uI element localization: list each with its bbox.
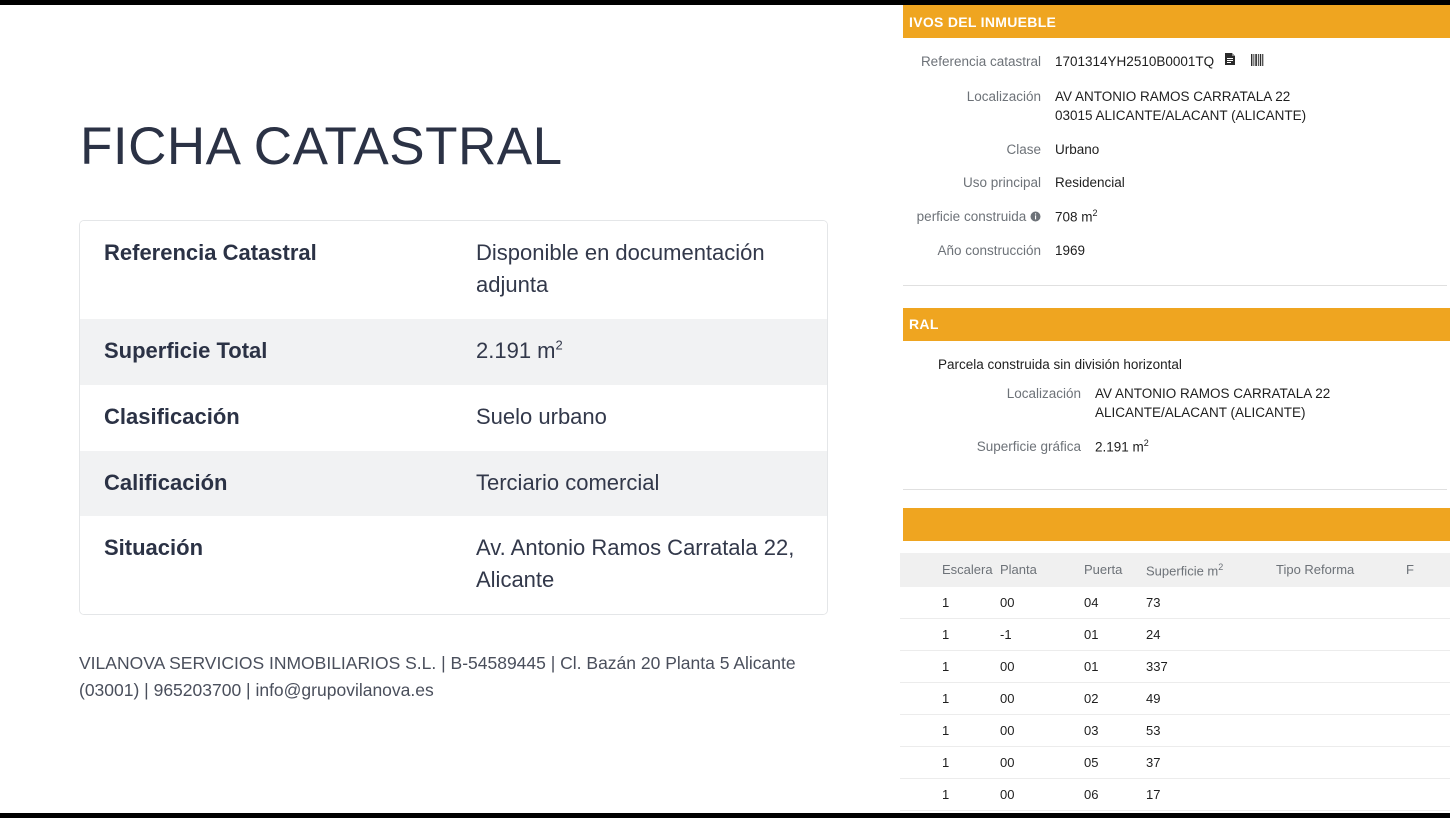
cell-tipo-reforma	[1272, 787, 1402, 802]
cell-escalera: 1	[900, 723, 996, 738]
field-label: Clase	[900, 140, 1055, 160]
cell-puerta: 01	[1080, 659, 1142, 674]
field-value: AV ANTONIO RAMOS CARRATALA 22 ALICANTE/A…	[1095, 384, 1450, 423]
cell-puerta: 01	[1080, 627, 1142, 642]
superficie-grafica-unit: 2	[1144, 438, 1149, 448]
reference-actions	[1224, 52, 1264, 73]
superficie-grafica-value: 2.191 m	[1095, 439, 1144, 454]
cell-puerta: 04	[1080, 595, 1142, 610]
table-row: Calificación Terciario comercial	[80, 451, 827, 517]
table-row: 1 00 06 17	[900, 779, 1450, 811]
cell-puerta: 06	[1080, 787, 1142, 802]
row-value: Disponible en documentación adjunta	[476, 237, 803, 301]
cell-superficie: 24	[1142, 627, 1272, 642]
superficie-construida-label-text: perficie construida	[917, 209, 1027, 224]
row-label: Situación	[104, 532, 476, 564]
section-header-property: IVOS DEL INMUEBLE	[903, 5, 1450, 38]
barcode-icon[interactable]	[1251, 53, 1264, 73]
section-header-property-label: IVOS DEL INMUEBLE	[909, 14, 1056, 30]
cell-tipo-reforma	[1272, 691, 1402, 706]
cell-superficie: 337	[1142, 659, 1272, 674]
parcel-field-list: Localización AV ANTONIO RAMOS CARRATALA …	[900, 384, 1450, 489]
company-contact-footer: VILANOVA SERVICIOS INMOBILIARIOS S.L. | …	[79, 650, 839, 704]
field-value: Urbano	[1055, 140, 1450, 160]
row-value-superscript: 2	[556, 337, 563, 352]
field-label: Localización	[900, 384, 1095, 404]
table-row: 1 00 07 118	[900, 811, 1450, 813]
cell-planta: 00	[996, 595, 1080, 610]
cell-fecha-reforma	[1402, 595, 1450, 610]
cell-fecha-reforma	[1402, 627, 1450, 642]
field-superficie-construida: perficie construida 708 m2	[900, 207, 1450, 227]
copy-icon[interactable]	[1224, 52, 1237, 73]
cell-tipo-reforma	[1272, 755, 1402, 770]
row-label: Referencia Catastral	[104, 237, 476, 269]
field-value: 1701314YH2510B0001TQ	[1055, 52, 1450, 73]
field-superficie-grafica: Superficie gráfica 2.191 m2	[900, 437, 1450, 457]
cell-escalera: 1	[900, 627, 996, 642]
section-divider	[903, 489, 1447, 490]
table-row: 1 00 04 73	[900, 587, 1450, 619]
cadastre-viewer-panel: IVOS DEL INMUEBLE Referencia catastral 1…	[900, 5, 1450, 813]
section-header-units	[903, 508, 1450, 541]
left-document-panel: FICHA CATASTRAL Referencia Catastral Dis…	[0, 5, 900, 813]
cell-fecha-reforma	[1402, 787, 1450, 802]
cell-fecha-reforma	[1402, 723, 1450, 738]
cell-superficie: 37	[1142, 755, 1272, 770]
cell-tipo-reforma	[1272, 627, 1402, 642]
cell-tipo-reforma	[1272, 595, 1402, 610]
field-clase: Clase Urbano	[900, 140, 1450, 160]
field-label: Uso principal	[900, 173, 1055, 193]
cell-fecha-reforma	[1402, 691, 1450, 706]
cell-planta: 00	[996, 755, 1080, 770]
column-header-superficie-text: Superficie m	[1146, 563, 1218, 578]
page-title: FICHA CATASTRAL	[80, 118, 563, 176]
row-value: Suelo urbano	[476, 401, 803, 433]
table-row: 1 00 05 37	[900, 747, 1450, 779]
units-table: Escalera Planta Puerta Superficie m2 Tip…	[900, 553, 1450, 813]
cell-escalera: 1	[900, 659, 996, 674]
superficie-construida-unit: 2	[1093, 208, 1098, 218]
cell-planta: 00	[996, 659, 1080, 674]
cell-planta: 00	[996, 723, 1080, 738]
cell-puerta: 02	[1080, 691, 1142, 706]
column-header-tipo-reforma: Tipo Reforma	[1272, 562, 1402, 578]
field-label: Año construcción	[900, 241, 1055, 261]
cell-superficie: 53	[1142, 723, 1272, 738]
field-value: 1969	[1055, 241, 1450, 261]
table-row: Situación Av. Antonio Ramos Carratala 22…	[80, 516, 827, 614]
parcel-localizacion-line-2: ALICANTE/ALACANT (ALICANTE)	[1095, 403, 1450, 423]
cell-puerta: 03	[1080, 723, 1142, 738]
row-value: Av. Antonio Ramos Carratala 22, Alicante	[476, 532, 803, 596]
field-localizacion: Localización AV ANTONIO RAMOS CARRATALA …	[900, 87, 1450, 126]
cell-superficie: 73	[1142, 595, 1272, 610]
cell-superficie: 49	[1142, 691, 1272, 706]
field-anio-construccion: Año construcción 1969	[900, 241, 1450, 261]
reference-catastral-value: 1701314YH2510B0001TQ	[1055, 54, 1214, 69]
row-value: Terciario comercial	[476, 467, 803, 499]
cell-planta: 00	[996, 691, 1080, 706]
column-header-planta: Planta	[996, 562, 1080, 578]
field-value: 2.191 m2	[1095, 437, 1450, 457]
row-label: Clasificación	[104, 401, 476, 433]
field-label: Localización	[900, 87, 1055, 107]
column-header-superficie: Superficie m2	[1142, 562, 1272, 578]
cell-superficie: 17	[1142, 787, 1272, 802]
table-row: Superficie Total 2.191 m2	[80, 319, 827, 385]
parcel-note: Parcela construida sin división horizont…	[900, 341, 1450, 384]
field-value: 708 m2	[1055, 207, 1450, 227]
field-value: Residencial	[1055, 173, 1450, 193]
table-row: 1 00 01 337	[900, 651, 1450, 683]
bottom-edge-bar	[0, 813, 1450, 818]
units-table-header-row: Escalera Planta Puerta Superficie m2 Tip…	[900, 553, 1450, 587]
column-header-puerta: Puerta	[1080, 562, 1142, 578]
field-label: Superficie gráfica	[900, 437, 1095, 457]
row-label: Calificación	[104, 467, 476, 499]
table-row: Referencia Catastral Disponible en docum…	[80, 221, 827, 319]
field-uso-principal: Uso principal Residencial	[900, 173, 1450, 193]
cell-planta: 00	[996, 787, 1080, 802]
cell-escalera: 1	[900, 755, 996, 770]
screenshot-root: FICHA CATASTRAL Referencia Catastral Dis…	[0, 0, 1450, 818]
field-label: perficie construida	[900, 207, 1055, 227]
cell-escalera: 1	[900, 595, 996, 610]
section-divider	[903, 285, 1447, 286]
cell-fecha-reforma	[1402, 659, 1450, 674]
field-label: Referencia catastral	[900, 52, 1055, 72]
row-label: Superficie Total	[104, 335, 476, 367]
table-row: 1 00 02 49	[900, 683, 1450, 715]
property-field-list: Referencia catastral 1701314YH2510B0001T…	[900, 38, 1450, 285]
section-header-parcel-label: RAL	[909, 316, 939, 332]
table-row: Clasificación Suelo urbano	[80, 385, 827, 451]
table-row: 1 -1 01 24	[900, 619, 1450, 651]
row-value: 2.191 m2	[476, 335, 803, 367]
column-header-fecha-reforma: F	[1402, 562, 1450, 578]
cell-tipo-reforma	[1272, 723, 1402, 738]
localizacion-line-2: 03015 ALICANTE/ALACANT (ALICANTE)	[1055, 106, 1450, 126]
table-row: 1 00 03 53	[900, 715, 1450, 747]
parcel-localizacion-line-1: AV ANTONIO RAMOS CARRATALA 22	[1095, 384, 1450, 404]
cell-tipo-reforma	[1272, 659, 1402, 674]
field-value: AV ANTONIO RAMOS CARRATALA 22 03015 ALIC…	[1055, 87, 1450, 126]
section-header-parcel: RAL	[903, 308, 1450, 341]
localizacion-line-1: AV ANTONIO RAMOS CARRATALA 22	[1055, 87, 1450, 107]
cell-escalera: 1	[900, 691, 996, 706]
field-reference-catastral: Referencia catastral 1701314YH2510B0001T…	[900, 52, 1450, 73]
cell-puerta: 05	[1080, 755, 1142, 770]
superficie-construida-value: 708 m	[1055, 209, 1093, 224]
cell-planta: -1	[996, 627, 1080, 642]
cell-fecha-reforma	[1402, 755, 1450, 770]
column-header-escalera: Escalera	[900, 562, 996, 578]
info-icon[interactable]	[1030, 207, 1041, 227]
column-header-superficie-unit: 2	[1218, 562, 1223, 572]
cadastral-summary-table: Referencia Catastral Disponible en docum…	[79, 220, 828, 615]
field-parcel-localizacion: Localización AV ANTONIO RAMOS CARRATALA …	[900, 384, 1450, 423]
row-value-text: 2.191 m	[476, 338, 556, 363]
cell-escalera: 1	[900, 787, 996, 802]
